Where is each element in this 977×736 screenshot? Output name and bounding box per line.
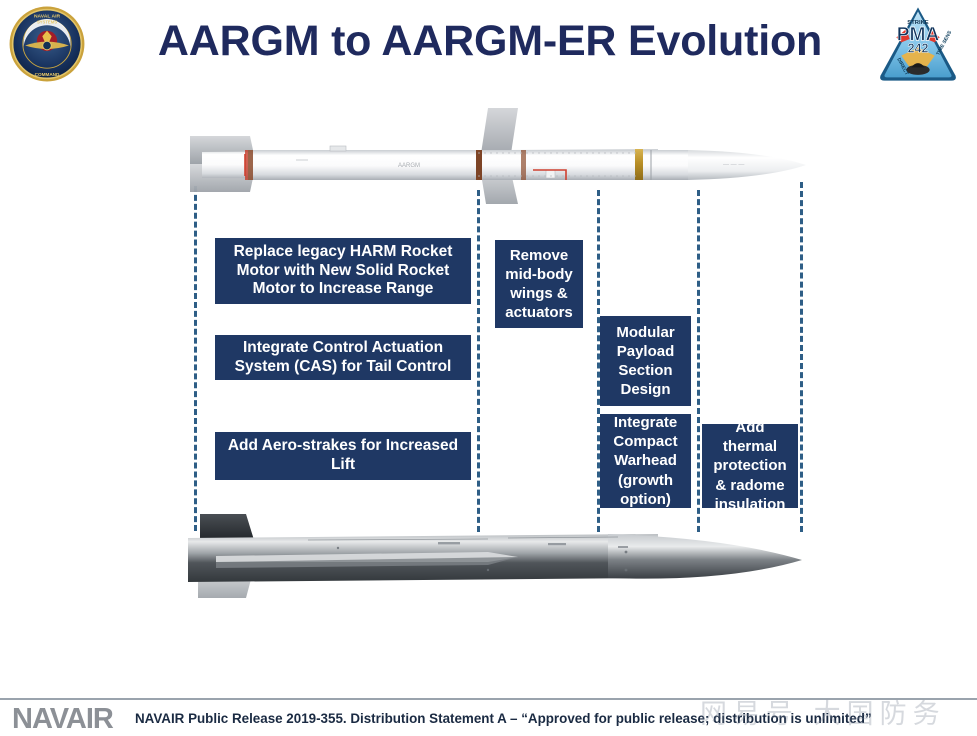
svg-text:242: 242: [908, 41, 929, 55]
callout-modular-payload[interactable]: Modular Payload Section Design: [600, 316, 691, 406]
pma-242-patch-logo: STRIKE PMA 242 DIRECT TIME SENS: [875, 4, 961, 84]
callout-aero-strakes[interactable]: Add Aero-strakes for Increased Lift: [215, 432, 471, 480]
callout-compact-warhead[interactable]: Integrate Compact Warhead (growth option…: [600, 414, 691, 508]
svg-text:AARGM: AARGM: [398, 163, 420, 169]
guide-line-4: [697, 190, 700, 532]
svg-text:NAVAL AIR: NAVAL AIR: [34, 13, 61, 19]
aargm-missile-illustration: AARGM — — —: [188, 108, 818, 206]
callout-remove-wings[interactable]: Remove mid-body wings & actuators: [495, 240, 583, 328]
svg-text:— — —: — — —: [723, 162, 744, 168]
slide-footer: NAVAIR NAVAIR Public Release 2019-355. D…: [0, 698, 977, 732]
guide-line-1: [194, 186, 197, 531]
guide-line-5: [800, 182, 803, 532]
slide-header: NAVAL AIR SYSTEMS COMMAND AARGM to AARGM…: [0, 0, 977, 88]
watermark-overlay: 网易号 大国防务: [700, 692, 977, 732]
callout-rocket-motor[interactable]: Replace legacy HARM Rocket Motor with Ne…: [215, 238, 471, 304]
slide-canvas: NAVAL AIR SYSTEMS COMMAND AARGM to AARGM…: [0, 0, 977, 732]
aargm-er-missile-illustration: [188, 512, 818, 614]
navair-seal-logo: NAVAL AIR SYSTEMS COMMAND: [8, 5, 86, 83]
callout-thermal-protection[interactable]: Add thermal protection & radome insulati…: [702, 424, 798, 508]
callout-control-actuation[interactable]: Integrate Control Actuation System (CAS)…: [215, 335, 471, 380]
navair-wordmark: NAVAIR: [12, 703, 113, 736]
page-title: AARGM to AARGM-ER Evolution: [110, 10, 870, 72]
svg-text:SYSTEMS: SYSTEMS: [37, 20, 57, 25]
svg-text:COMMAND: COMMAND: [35, 72, 60, 77]
guide-line-2: [477, 190, 480, 532]
